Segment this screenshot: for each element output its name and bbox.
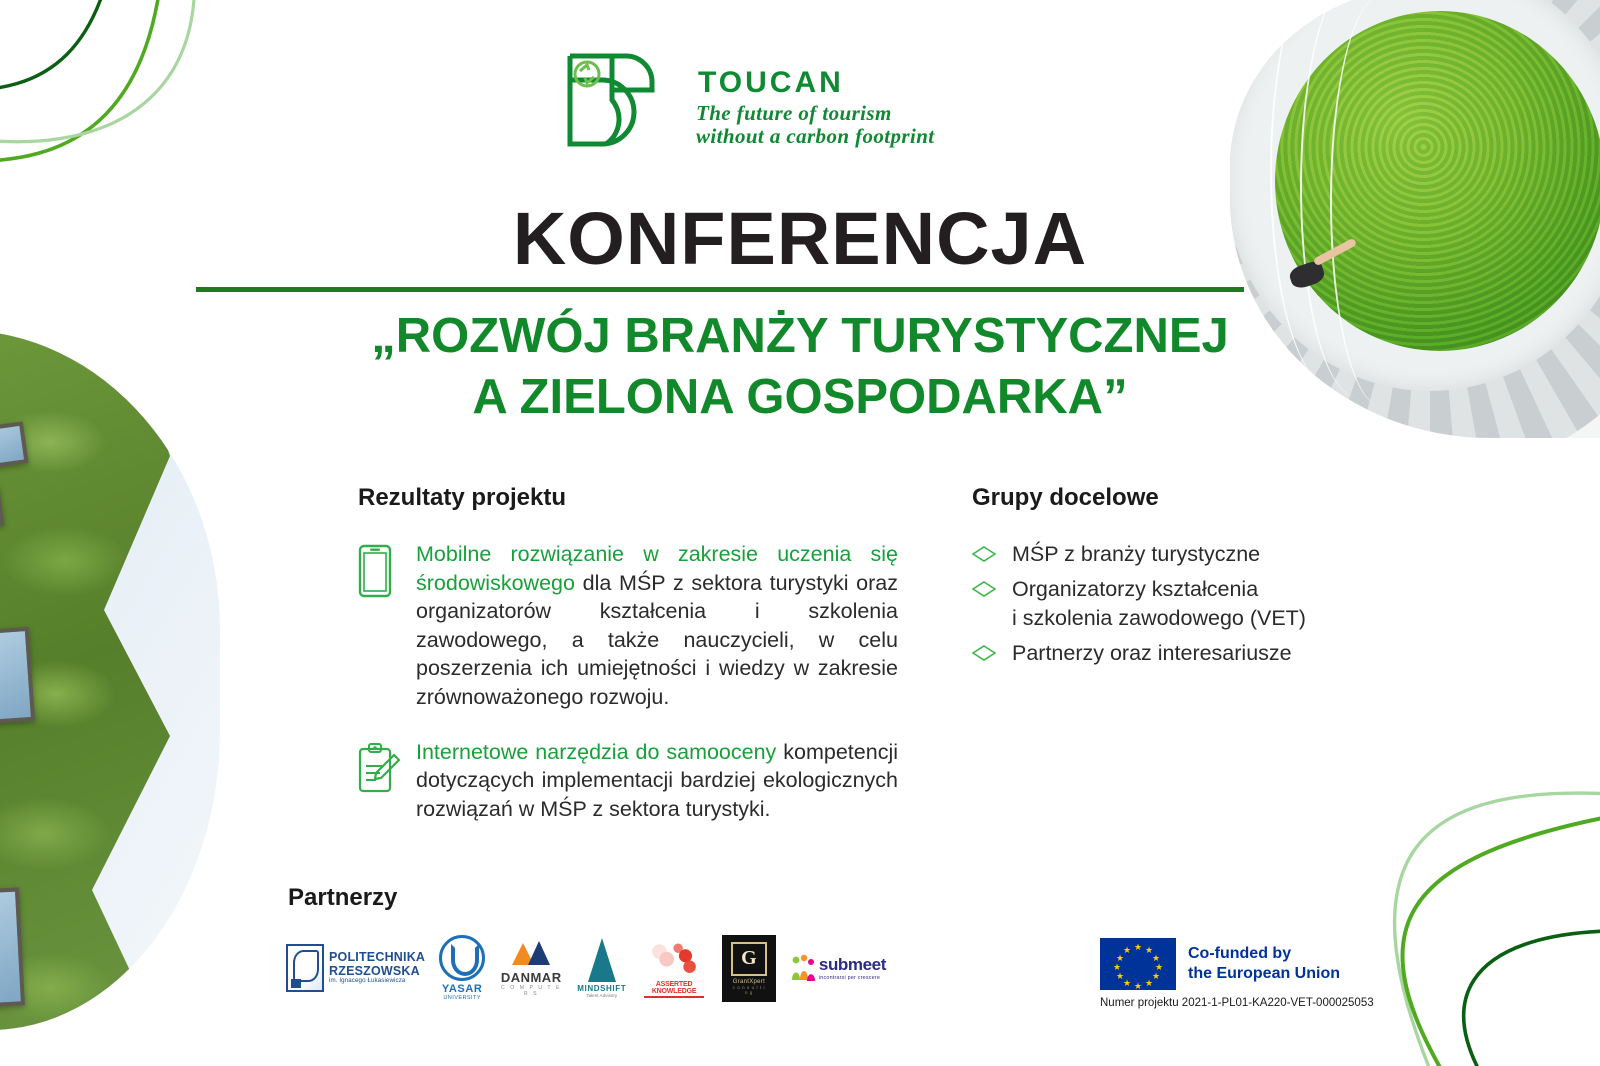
grantxpert-mark-icon: G: [731, 942, 767, 976]
submeet-people-icon: [790, 954, 816, 982]
grantxpert-title: GrantXpert: [731, 979, 767, 985]
project-number: Numer projektu 2021-1-PL01-KA220-VET-000…: [1100, 997, 1374, 1009]
danmar-title: DANMAR: [499, 970, 563, 985]
diamond-bullet-icon: [972, 639, 1012, 666]
eu-funding-text: Co-funded by the European Union: [1188, 944, 1340, 984]
yasar-title: YASAR: [439, 983, 485, 995]
target-group-text: MŚP z branży turystyczne: [1012, 540, 1260, 568]
mindshift-sub: Talent Advisory: [577, 993, 626, 998]
page-subtitle-line1: „ROZWÓJ BRANŻY TURYSTYCZNEJ: [0, 306, 1600, 367]
yasar-mark-icon: [439, 935, 485, 981]
politechnika-line1: POLITECHNIKA: [329, 951, 425, 964]
toucan-logo: TOUCAN The future of tourism without a c…: [556, 42, 976, 168]
eu-funding-line2: the European Union: [1188, 964, 1340, 984]
asserted-knowledge-title: ASSERTED KNOWLEDGE: [640, 981, 708, 995]
politechnika-label: POLITECHNIKA RZESZOWSKA im. Ignacego Łuk…: [329, 951, 425, 984]
target-group-text: Organizatorzy kształcenia i szkolenia za…: [1012, 575, 1306, 632]
swoosh-decoration-bottom-right: [1210, 706, 1600, 1066]
eu-funding-badge: ★ ★ ★ ★ ★ ★ ★ ★ ★ ★ ★ ★ Co-funded by the…: [1100, 938, 1374, 1009]
submeet-title: submeet: [819, 955, 886, 975]
result-item-text: Internetowe narzędzia do samooceny kompe…: [416, 738, 898, 824]
page-subtitle-line2: A ZIELONA GOSPODARKA”: [0, 367, 1600, 428]
clipboard-pencil-icon: [358, 738, 416, 799]
toucan-bird-recycle-icon: [556, 44, 676, 154]
target-group-line: MŚP z branży turystyczne: [1012, 540, 1260, 568]
target-group-line: i szkolenia zawodowego (VET): [1012, 604, 1306, 632]
target-group-line: Partnerzy oraz interesariusze: [1012, 639, 1292, 667]
target-groups-section: Grupy docelowe MŚP z branży turystyczne …: [972, 484, 1332, 675]
mindshift-title: MINDSHIFT: [577, 984, 626, 993]
mindshift-mark-icon: [588, 938, 616, 982]
page-subtitle: „ROZWÓJ BRANŻY TURYSTYCZNEJ A ZIELONA GO…: [0, 306, 1600, 428]
grantxpert-sub: c o n s u l t i n g: [731, 985, 767, 995]
target-group-line: Organizatorzy kształcenia: [1012, 575, 1306, 603]
eu-flag-icon: ★ ★ ★ ★ ★ ★ ★ ★ ★ ★ ★ ★: [1100, 938, 1176, 990]
partner-logo-submeet: submeet incontrarsi per crescere: [790, 931, 886, 1005]
title-divider: [196, 287, 1244, 292]
partner-logo-yasar-university: YASAR UNIVERSITY: [439, 931, 485, 1005]
result-item-text: Mobilne rozwiązanie w zakresie uczenia s…: [416, 540, 898, 712]
partners-logo-row: POLITECHNIKA RZESZOWSKA im. Ignacego Łuk…: [286, 928, 886, 1008]
partner-logo-asserted-knowledge: ASSERTED KNOWLEDGE: [640, 931, 708, 1005]
results-heading: Rezultaty projektu: [358, 484, 898, 512]
eu-funding-line1: Co-funded by: [1188, 944, 1340, 964]
politechnika-mark-icon: [286, 944, 324, 992]
submeet-sub: incontrarsi per crescere: [819, 975, 886, 981]
partner-logo-mindshift: MINDSHIFT Talent Advisory: [577, 931, 626, 1005]
partner-logo-politechnika-rzeszowska: POLITECHNIKA RZESZOWSKA im. Ignacego Łuk…: [286, 931, 425, 1005]
diamond-bullet-icon: [972, 540, 1012, 567]
logo-tagline-line1: The future of tourism: [696, 102, 966, 125]
danmar-mark-icon: [508, 939, 554, 965]
swoosh-decoration-top-left: [0, 0, 300, 210]
result-item: Internetowe narzędzia do samooceny kompe…: [358, 738, 898, 824]
target-group-item: MŚP z branży turystyczne: [972, 540, 1332, 568]
diamond-bullet-icon: [972, 575, 1012, 602]
logo-tagline-line2: without a carbon footprint: [696, 125, 966, 148]
result-item-highlight: Internetowe narzędzia do samooceny: [416, 740, 776, 764]
partner-logo-grantxpert: G GrantXpert c o n s u l t i n g: [722, 931, 776, 1005]
yasar-sub: UNIVERSITY: [439, 995, 485, 1001]
asserted-knowledge-head-icon: [648, 939, 700, 981]
result-item: Mobilne rozwiązanie w zakresie uczenia s…: [358, 540, 898, 712]
politechnika-line2: RZESZOWSKA: [329, 965, 425, 978]
target-group-item: Organizatorzy kształcenia i szkolenia za…: [972, 575, 1332, 632]
target-groups-heading: Grupy docelowe: [972, 484, 1332, 512]
partners-heading: Partnerzy: [288, 884, 397, 912]
danmar-sub: C O M P U T E R S: [499, 985, 563, 997]
green-wall-building-photo: [0, 330, 220, 1030]
logo-tagline: The future of tourism without a carbon f…: [696, 102, 966, 147]
asserted-knowledge-underline: [644, 996, 704, 998]
results-section: Rezultaty projektu Mobilne rozwiązanie w…: [358, 484, 898, 849]
mobile-phone-icon: [358, 540, 416, 603]
conference-poster: TOUCAN The future of tourism without a c…: [0, 0, 1600, 1066]
politechnika-sub: im. Ignacego Łukasiewicza: [329, 978, 425, 985]
page-title: KONFERENCJA: [0, 196, 1600, 281]
logo-name: TOUCAN: [698, 66, 844, 100]
target-group-item: Partnerzy oraz interesariusze: [972, 639, 1332, 667]
target-group-text: Partnerzy oraz interesariusze: [1012, 639, 1292, 667]
partner-logo-danmar-computers: DANMAR C O M P U T E R S: [499, 931, 563, 1005]
